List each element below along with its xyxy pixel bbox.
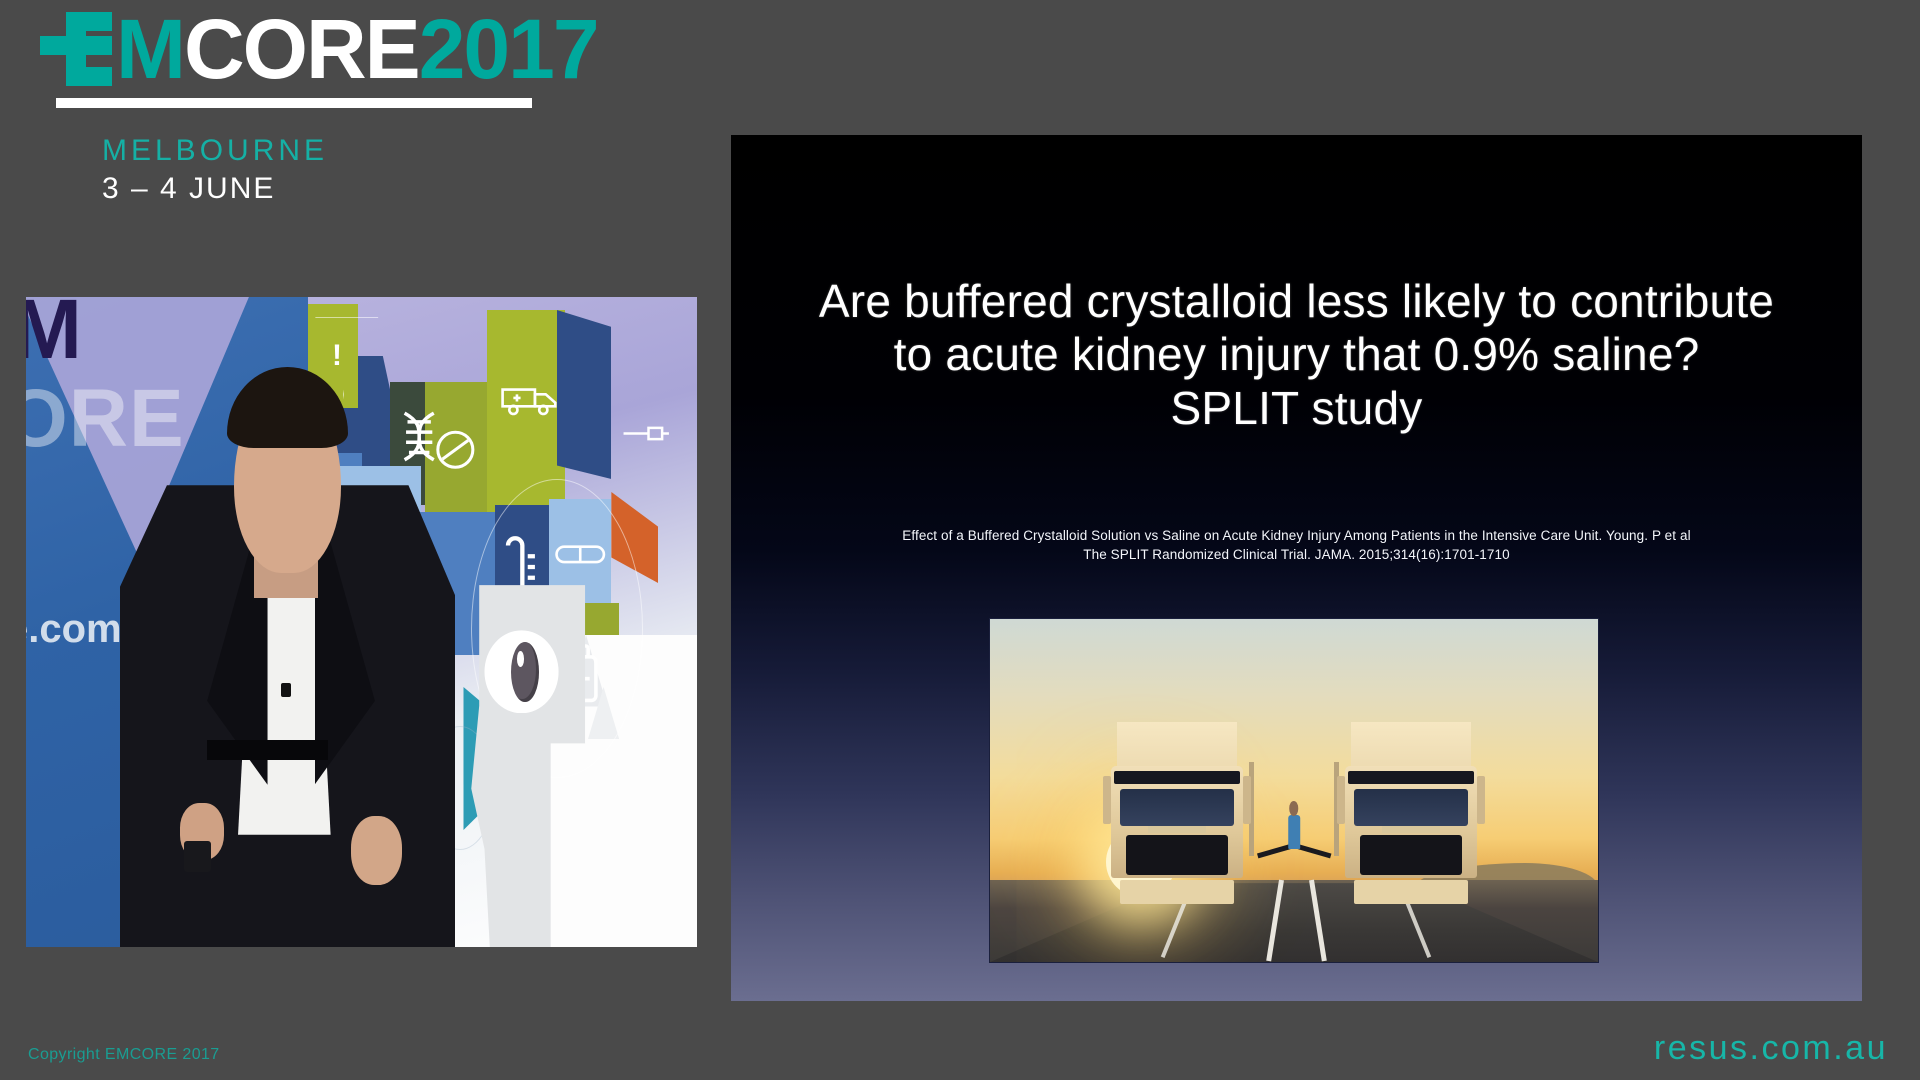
lapel-microphone-icon (281, 683, 291, 697)
truck-mirror-left (1103, 776, 1112, 823)
speaker-figure (120, 323, 456, 947)
truck-mirror-left (1337, 776, 1346, 823)
truck-mirror-right (1477, 776, 1486, 823)
wordmark-m: M (116, 7, 184, 91)
truck-grille (1360, 835, 1463, 875)
emcore-wordmark: M CORE 2017 (40, 4, 700, 91)
presentation-stage: M CORE 2017 MELBOURNE 3 – 4 JUNE M ORE e… (0, 0, 1920, 1080)
truck-name-band (1348, 771, 1474, 784)
slide-citation: Effect of a Buffered Crystalloid Solutio… (731, 526, 1862, 564)
truck-windshield (1354, 789, 1468, 825)
citation-line-1: Effect of a Buffered Crystalloid Solutio… (821, 526, 1772, 545)
speaker-belt (207, 740, 328, 760)
truck-left (1106, 722, 1249, 904)
truck-logo-bar (1382, 826, 1439, 833)
truck-bumper (1354, 880, 1468, 904)
ambulance-icon (499, 356, 561, 447)
wordmark-core: CORE (184, 7, 419, 91)
brand-underline-rule (56, 98, 532, 108)
event-city: MELBOURNE (102, 134, 328, 168)
speaker-hand-right (351, 816, 401, 885)
truck-grille (1126, 835, 1229, 875)
presenter-clicker-icon (184, 841, 211, 872)
event-branding: M CORE 2017 MELBOURNE 3 – 4 JUNE (40, 4, 700, 91)
truck-mirror-right (1243, 776, 1252, 823)
truck-right (1340, 722, 1483, 904)
truck-name-band (1114, 771, 1240, 784)
slide-title-line-3: SPLIT study (759, 382, 1834, 435)
slide-title-line-2: to acute kidney injury that 0.9% saline? (759, 328, 1834, 381)
split-performer-figure (1281, 815, 1307, 870)
speaker-video-panel[interactable]: M ORE e.com.au (26, 297, 697, 947)
copyright-notice: Copyright EMCORE 2017 (28, 1046, 220, 1064)
syringe-icon (619, 401, 673, 466)
slide-title: Are buffered crystalloid less likely to … (731, 275, 1862, 435)
wordmark-year: 2017 (419, 7, 598, 91)
stage-backdrop: M ORE e.com.au (26, 297, 697, 947)
pupil-icon (511, 642, 539, 702)
capsule-icon (553, 518, 607, 590)
citation-line-2: The SPLIT Randomized Clinical Trial. JAM… (821, 545, 1772, 564)
medical-cross-e-icon (40, 12, 114, 86)
truck-logo-bar (1148, 826, 1205, 833)
slide-viewer[interactable]: Are buffered crystalloid less likely to … (731, 135, 1862, 1001)
website-url[interactable]: resus.com.au (1654, 1029, 1888, 1068)
collage-tile-navy-right (557, 310, 611, 479)
speaker-hair (227, 367, 348, 448)
event-dates: 3 – 4 JUNE (102, 172, 275, 206)
slide-title-line-1: Are buffered crystalloid less likely to … (759, 275, 1834, 328)
backdrop-word-m: M (26, 297, 83, 368)
epic-split-trucks-photo (989, 618, 1599, 963)
truck-windshield (1120, 789, 1234, 825)
truck-bumper (1120, 880, 1234, 904)
performer-torso (1288, 815, 1300, 849)
